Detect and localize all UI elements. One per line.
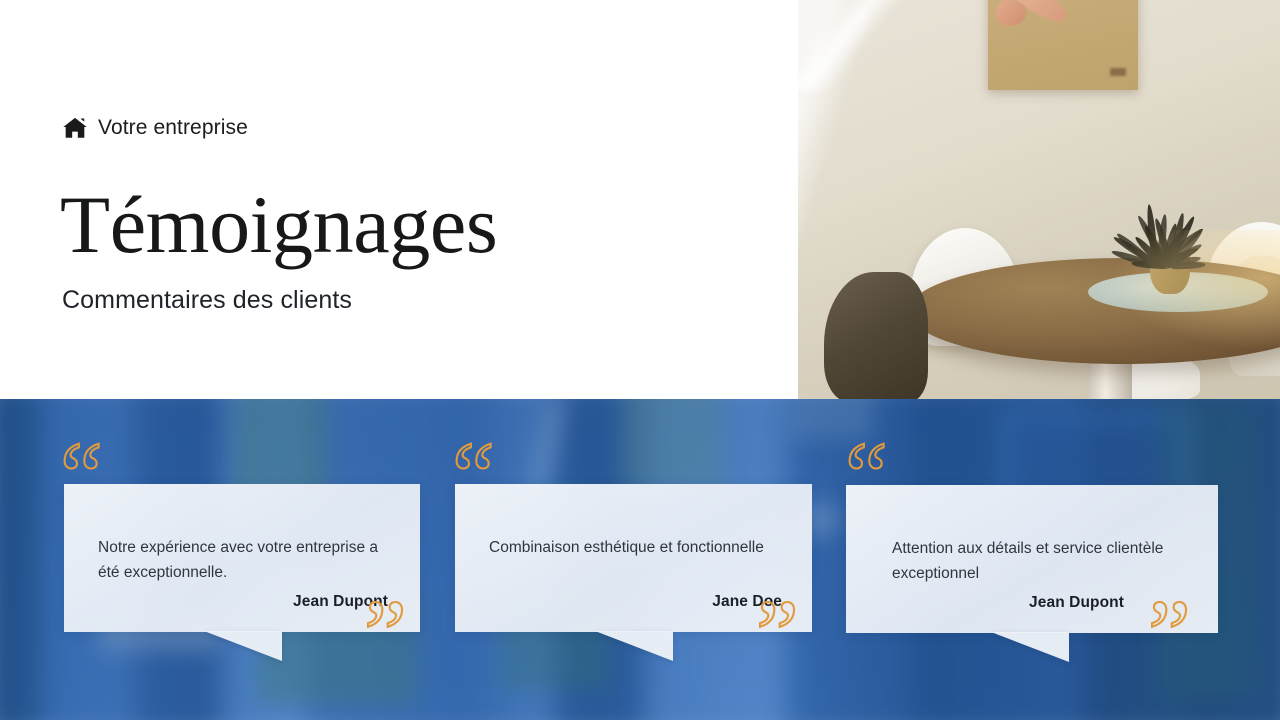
slide-stage: Votre entreprise Témoignages Commentaire… (0, 0, 1280, 720)
close-quote-icon: ” (1148, 586, 1189, 682)
brand-name: Votre entreprise (98, 116, 248, 140)
home-icon (62, 115, 88, 141)
bubble-tail (204, 631, 282, 661)
close-quote-icon: ” (756, 586, 797, 682)
close-quote-icon: ” (364, 586, 405, 682)
testimonial-quote: Notre expérience avec votre entreprise a… (98, 536, 394, 585)
artwork-hand (994, 0, 1029, 29)
warm-light-glow (1110, 230, 1280, 350)
photo-light-streak (798, 0, 958, 90)
hero-photo (798, 0, 1280, 399)
dark-chair (824, 272, 928, 399)
title-panel: Votre entreprise Témoignages Commentaire… (0, 0, 798, 399)
bubble-tail (595, 631, 673, 661)
testimonial-quote: Attention aux détails et service clientè… (892, 537, 1192, 586)
artwork-signature (1110, 68, 1126, 76)
brand-block: Votre entreprise (62, 115, 248, 141)
framed-artwork (988, 0, 1138, 90)
testimonial-author: Jean Dupont (1029, 594, 1124, 612)
page-title: Témoignages (60, 178, 497, 272)
testimonial-quote: Combinaison esthétique et fonctionnelle (489, 536, 786, 561)
page-subtitle: Commentaires des clients (62, 286, 352, 315)
bubble-tail (991, 632, 1069, 662)
